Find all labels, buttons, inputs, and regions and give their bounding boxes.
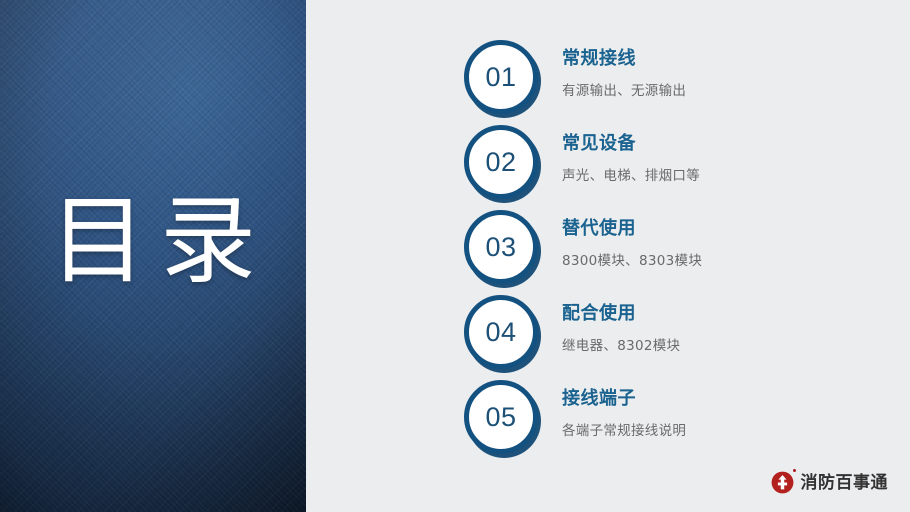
logo-trademark-dot	[793, 469, 796, 472]
toc-entry-title: 接线端子	[562, 386, 872, 412]
toc-entry-text: 替代使用 8300模块、8303模块	[562, 216, 872, 271]
badge-number: 02	[464, 125, 538, 199]
fire-safety-torch-icon	[771, 471, 794, 494]
toc-entry-04[interactable]: 04 配合使用 继电器、8302模块	[462, 293, 882, 378]
step-badge-05: 05	[462, 378, 538, 454]
step-badge-04: 04	[462, 293, 538, 369]
step-badge-02: 02	[462, 123, 538, 199]
toc-entry-subtitle: 继电器、8302模块	[562, 336, 872, 356]
toc-entry-text: 接线端子 各端子常规接线说明	[562, 386, 872, 441]
footer-brand-logo: 消防百事通	[771, 471, 889, 494]
toc-entry-02[interactable]: 02 常见设备 声光、电梯、排烟口等	[462, 123, 882, 208]
table-of-contents: 01 常规接线 有源输出、无源输出 02 常见设备 声光、电梯、排烟口等 03	[462, 38, 882, 463]
toc-entry-01[interactable]: 01 常规接线 有源输出、无源输出	[462, 38, 882, 123]
badge-number: 01	[464, 40, 538, 114]
toc-entry-text: 配合使用 继电器、8302模块	[562, 301, 872, 356]
title-panel: 目录	[0, 0, 306, 512]
toc-entry-subtitle: 8300模块、8303模块	[562, 251, 872, 271]
toc-entry-subtitle: 声光、电梯、排烟口等	[562, 166, 872, 186]
page-title: 目录	[0, 186, 306, 296]
toc-entry-03[interactable]: 03 替代使用 8300模块、8303模块	[462, 208, 882, 293]
toc-entry-title: 配合使用	[562, 301, 872, 327]
step-badge-01: 01	[462, 38, 538, 114]
toc-entry-title: 常见设备	[562, 131, 872, 157]
toc-entry-subtitle: 有源输出、无源输出	[562, 81, 872, 101]
toc-entry-text: 常规接线 有源输出、无源输出	[562, 46, 872, 101]
toc-entry-subtitle: 各端子常规接线说明	[562, 421, 872, 441]
badge-number: 04	[464, 295, 538, 369]
badge-number: 05	[464, 380, 538, 454]
toc-entry-title: 常规接线	[562, 46, 872, 72]
presentation-slide: 目录 01 常规接线 有源输出、无源输出 02 常见设备 声光、电梯、排烟口等	[0, 0, 910, 512]
step-badge-03: 03	[462, 208, 538, 284]
brand-name: 消防百事通	[801, 473, 889, 493]
toc-entry-text: 常见设备 声光、电梯、排烟口等	[562, 131, 872, 186]
toc-entry-05[interactable]: 05 接线端子 各端子常规接线说明	[462, 378, 882, 463]
badge-number: 03	[464, 210, 538, 284]
toc-entry-title: 替代使用	[562, 216, 872, 242]
